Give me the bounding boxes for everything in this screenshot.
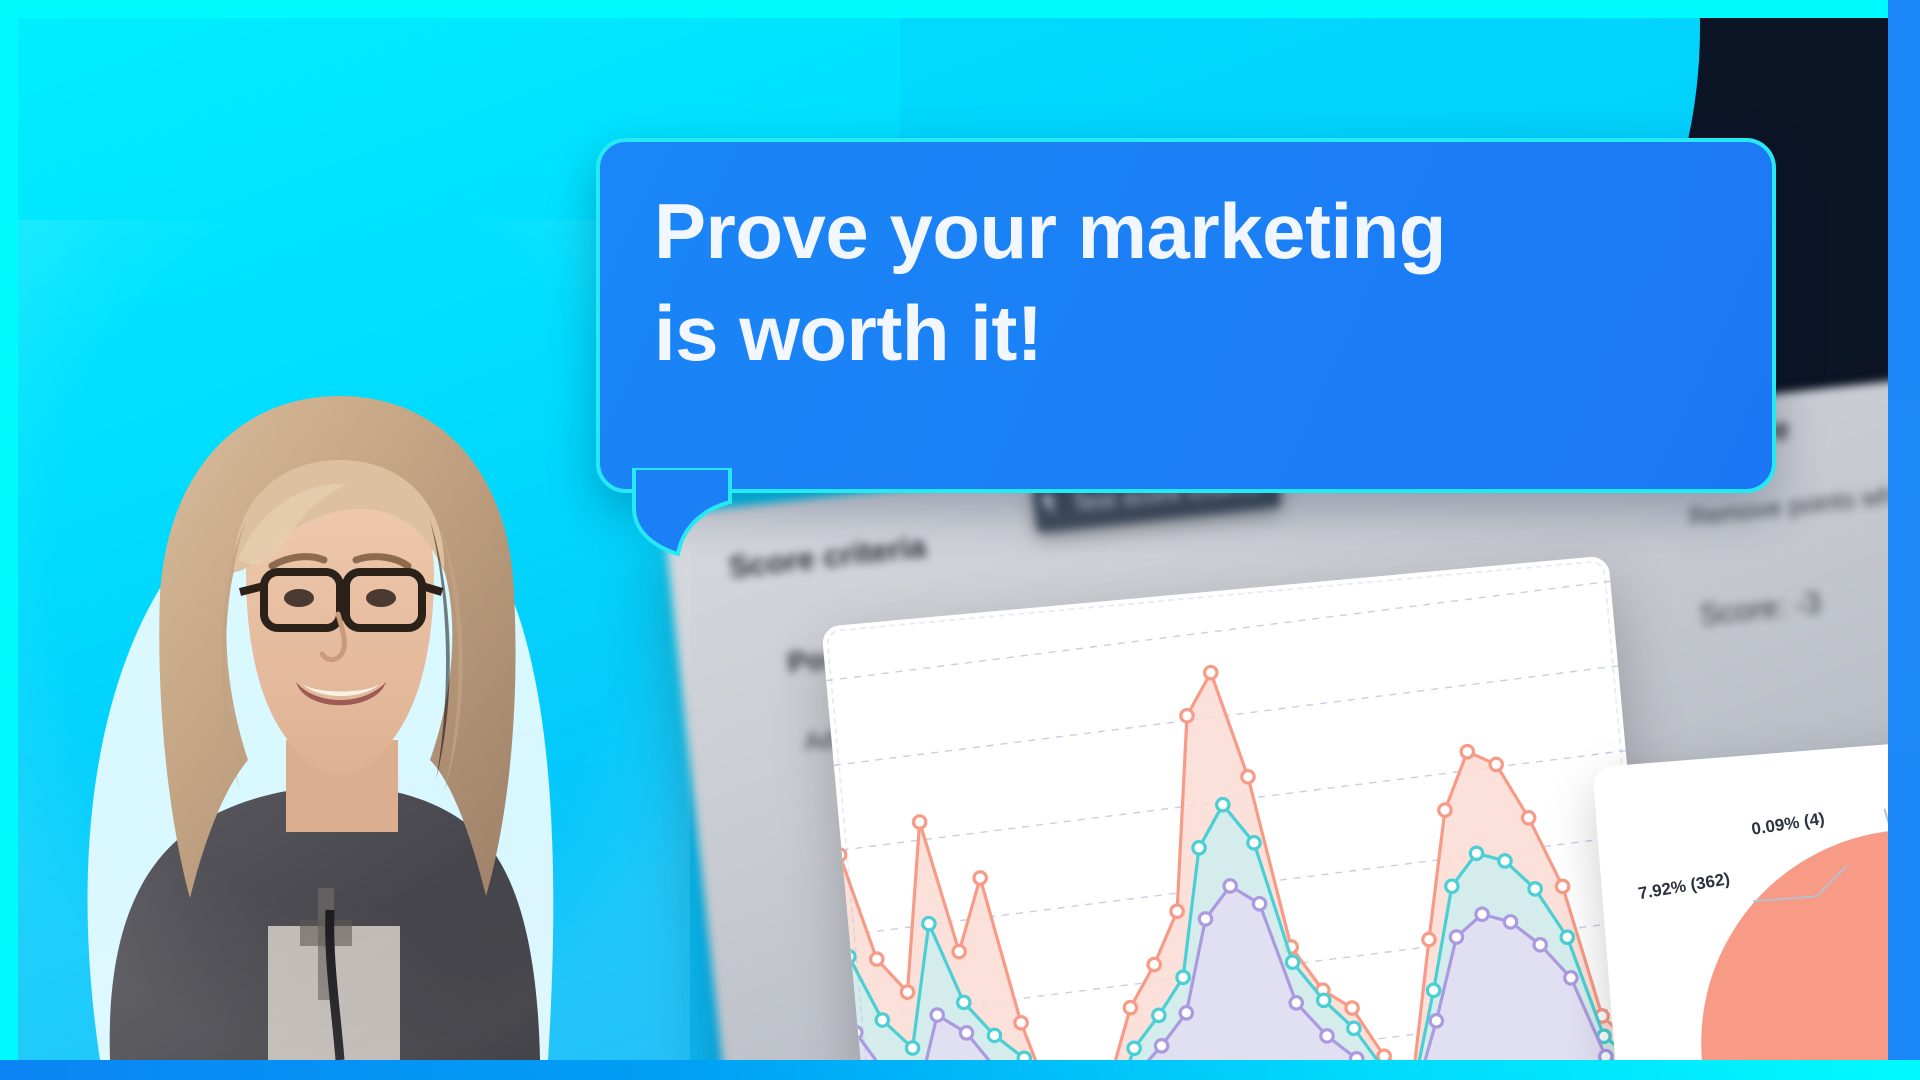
speech-bubble: Prove your marketing is worth it! xyxy=(596,138,1776,493)
area-chart-card[interactable] xyxy=(821,555,1659,1080)
area-chart-svg xyxy=(821,555,1659,1080)
score-value-label: Score: -3 xyxy=(1698,586,1823,633)
speech-bubble-tail xyxy=(626,468,756,558)
presenter-video-cutout xyxy=(0,220,690,1060)
frame-border-right xyxy=(1888,0,1920,1080)
score-criteria-heading: Score criteria xyxy=(727,528,928,585)
pie-chart-card[interactable]: 7.92% (362) 0.09% (4) xyxy=(1592,734,1920,1080)
frame-border-left xyxy=(0,0,18,1080)
bubble-line-1: Prove your marketing xyxy=(654,187,1446,275)
frame-border-top xyxy=(0,0,1920,18)
pie-chart-svg xyxy=(1592,734,1920,1080)
pie-slice-1[interactable] xyxy=(1684,812,1920,1080)
thumbnail-canvas: Score criteria Test score criteria Posit… xyxy=(0,0,1920,1080)
cursor-icon xyxy=(1043,491,1059,514)
speech-bubble-text: Prove your marketing is worth it! xyxy=(654,180,1734,384)
bubble-line-2: is worth it! xyxy=(654,282,1734,384)
frame-border-bottom xyxy=(0,1060,1920,1080)
